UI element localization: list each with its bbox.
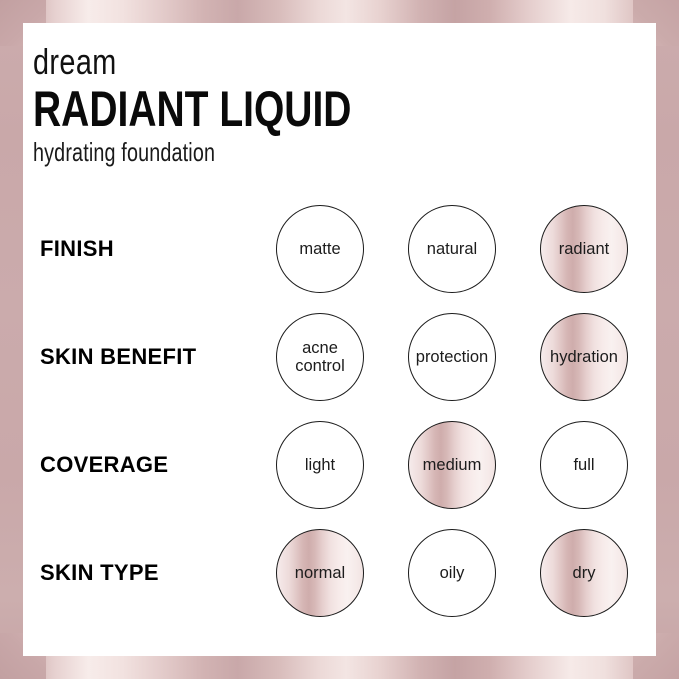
attribute-matrix: FINISHmattenaturalradiantSKIN BENEFITacn… [23,195,656,627]
attribute-row: SKIN BENEFITacnecontrolprotectionhydrati… [23,303,656,411]
infographic-card: dream RADIANT LIQUID hydrating foundatio… [23,23,656,656]
attribute-option-label: protection [412,348,492,366]
attribute-option-label: full [569,456,598,474]
attribute-option-circle[interactable]: protection [408,313,496,401]
product-name: RADIANT LIQUID [33,83,351,135]
attribute-row-label: FINISH [40,195,114,303]
attribute-option-circle[interactable]: oily [408,529,496,617]
attribute-row-label: SKIN BENEFIT [40,303,196,411]
attribute-row-label: SKIN TYPE [40,519,159,627]
attribute-option-circle[interactable]: full [540,421,628,509]
attribute-option-label: acnecontrol [291,339,349,375]
attribute-option-group: lightmediumfull [230,411,656,519]
attribute-option-group: normaloilydry [230,519,656,627]
attribute-option-label: radiant [555,240,613,258]
attribute-option-circle[interactable]: normal [276,529,364,617]
attribute-option-label: light [301,456,339,474]
attribute-option-label: normal [291,564,349,582]
brand-word: dream [33,43,360,81]
attribute-row: SKIN TYPEnormaloilydry [23,519,656,627]
attribute-option-circle[interactable]: radiant [540,205,628,293]
attribute-option-label: natural [423,240,481,258]
product-subtitle: hydrating foundation [33,138,343,166]
attribute-row: FINISHmattenaturalradiant [23,195,656,303]
attribute-option-label: dry [569,564,600,582]
attribute-option-group: mattenaturalradiant [230,195,656,303]
attribute-row-label: COVERAGE [40,411,168,519]
attribute-option-label: oily [436,564,469,582]
attribute-option-group: acnecontrolprotectionhydration [230,303,656,411]
attribute-option-label: hydration [546,348,622,366]
attribute-option-circle[interactable]: matte [276,205,364,293]
attribute-option-circle[interactable]: natural [408,205,496,293]
attribute-row: COVERAGElightmediumfull [23,411,656,519]
attribute-option-label: medium [419,456,486,474]
attribute-option-circle[interactable]: light [276,421,364,509]
attribute-option-circle[interactable]: hydration [540,313,628,401]
attribute-option-circle[interactable]: medium [408,421,496,509]
product-header: dream RADIANT LIQUID hydrating foundatio… [33,43,441,166]
attribute-option-circle[interactable]: acnecontrol [276,313,364,401]
product-infographic-frame: dream RADIANT LIQUID hydrating foundatio… [0,0,679,679]
attribute-option-label: matte [295,240,344,258]
attribute-option-circle[interactable]: dry [540,529,628,617]
